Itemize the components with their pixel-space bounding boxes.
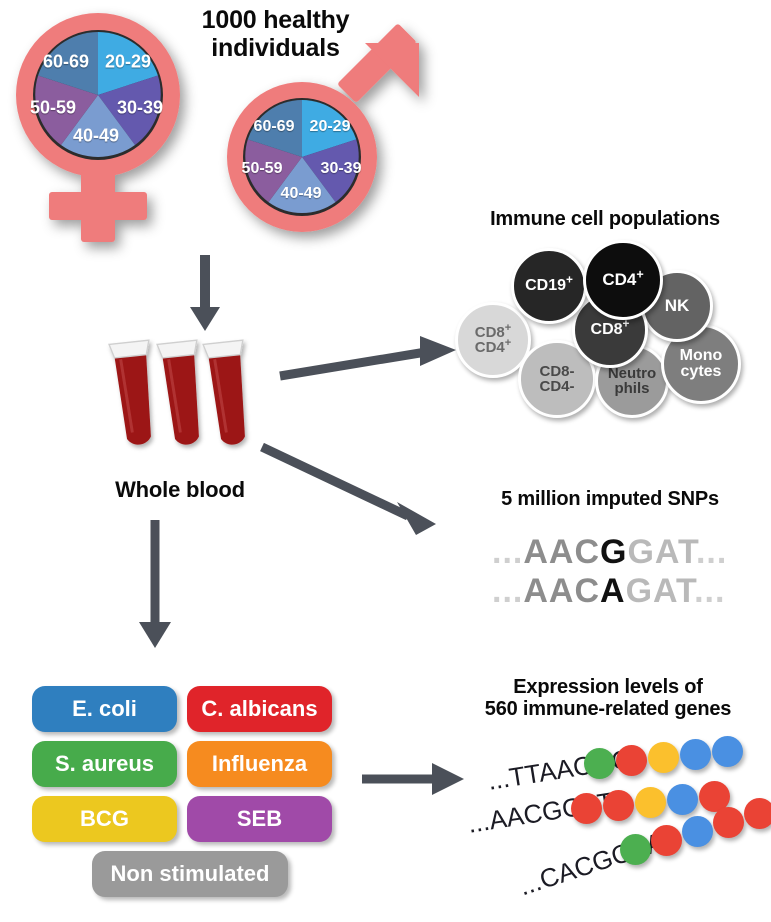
expression-strand-1-bead-3: [648, 742, 679, 773]
expression-strand-3-bead-3: [682, 816, 713, 847]
stimulus-seb[interactable]: SEB: [187, 796, 332, 842]
arrow-stimuli-to-expression: [360, 755, 470, 805]
immune-cell-cd8p-label: CD8+: [591, 322, 630, 338]
immune-cell-cd8n-cd4n-label: CD8-CD4-: [539, 364, 574, 395]
immune-cell-cd4p: CD4+: [583, 240, 663, 320]
snp-seq-2-left: AAC: [523, 572, 600, 610]
snp-sequence-row-2: ...AACAGAT...: [492, 572, 725, 611]
snp-seq-1-prefix: ...: [492, 533, 523, 571]
male-pie-label-60-69: 60-69: [254, 118, 295, 136]
immune-cell-cd19p-label: CD19+: [525, 278, 573, 294]
stimulus-non-stimulated[interactable]: Non stimulated: [92, 851, 288, 897]
immune-cell-nk-label: NK: [665, 297, 690, 314]
female-pie-label-40-49: 40-49: [73, 126, 119, 147]
stimulus-s-aureus-label: S. aureus: [55, 751, 154, 777]
immune-cell-group: CD8+CD4+ CD8-CD4- Neutrophils Monocytes …: [455, 240, 755, 420]
snp-seq-1-suffix: ...: [696, 533, 727, 571]
snp-seq-1-right: GAT: [627, 533, 695, 571]
stimulus-e-coli-label: E. coli: [72, 696, 137, 722]
expression-strand-1-bead-5: [712, 736, 743, 767]
snp-seq-1-left: AAC: [523, 533, 600, 571]
female-pie-label-30-39: 30-39: [117, 98, 163, 119]
snp-sequence-row-1: ...AACGGAT...: [492, 533, 727, 572]
expression-strand-2-bead-3: [635, 787, 666, 818]
expression-title-line1: Expression levels of: [452, 676, 764, 698]
immune-cell-cd4p-label: CD4+: [602, 271, 643, 288]
expression-strand-3-bead-5: [744, 798, 771, 829]
male-pie-label-20-29: 20-29: [310, 118, 351, 136]
stimulus-e-coli[interactable]: E. coli: [32, 686, 177, 732]
female-pie-label-60-69: 60-69: [43, 52, 89, 73]
snp-seq-1-variant: G: [600, 533, 627, 571]
expression-strand-3-bead-2: [651, 825, 682, 856]
expression-strand-2-bead-2: [603, 790, 634, 821]
expression-strand-3-bead-4: [713, 807, 744, 838]
snp-seq-2-right: GAT: [626, 572, 694, 610]
expression-strand-2-bead-1: [571, 793, 602, 824]
arrow-blood-to-stimuli: [130, 520, 180, 650]
expression-strand-3-bead-1: [620, 834, 651, 865]
immune-title-text: Immune cell populations: [490, 208, 720, 230]
stimulus-bcg-label: BCG: [80, 806, 129, 832]
immune-cell-cd8p-cd4p-label: CD8+CD4+: [475, 325, 512, 356]
stimulus-seb-label: SEB: [237, 806, 282, 832]
male-pie-label-30-39: 30-39: [321, 160, 362, 178]
stimulus-c-albicans[interactable]: C. albicans: [187, 686, 332, 732]
whole-blood-label-text: Whole blood: [115, 477, 245, 502]
snp-title: 5 million imputed SNPs: [460, 488, 760, 510]
expression-strand-1-bead-4: [680, 739, 711, 770]
snp-title-text: 5 million imputed SNPs: [501, 488, 719, 510]
stimulus-non-stimulated-label: Non stimulated: [111, 861, 270, 887]
stimulus-s-aureus[interactable]: S. aureus: [32, 741, 177, 787]
male-symbol-shape: [205, 35, 440, 250]
male-pie-label-40-49: 40-49: [281, 185, 322, 203]
female-pie-label-20-29: 20-29: [105, 52, 151, 73]
snp-seq-2-variant: A: [600, 572, 626, 610]
expression-strand-1-bead-2: [616, 745, 647, 776]
blood-tubes-shape: [95, 330, 265, 470]
immune-cell-monocytes-label: Monocytes: [680, 348, 723, 381]
expression-strand-3: ...CACGCAA: [520, 850, 771, 910]
male-symbol: 20-29 30-39 40-49 50-59 60-69: [205, 35, 440, 250]
stimulus-influenza[interactable]: Influenza: [187, 741, 332, 787]
arrow-blood-to-snp: [258, 440, 453, 545]
expression-strand-2-bead-4: [667, 784, 698, 815]
whole-blood-label: Whole blood: [80, 478, 280, 503]
stimulus-c-albicans-label: C. albicans: [201, 696, 317, 722]
immune-title: Immune cell populations: [450, 208, 760, 230]
blood-tubes: [95, 330, 265, 470]
snp-seq-2-prefix: ...: [492, 572, 523, 610]
female-symbol: 20-29 30-39 40-49 50-59 60-69: [0, 0, 215, 250]
immune-cell-cd19p: CD19+: [511, 248, 587, 324]
female-pie-label-50-59: 50-59: [30, 98, 76, 119]
stimulus-influenza-label: Influenza: [212, 751, 307, 777]
expression-strand-1-bead-1: [584, 748, 615, 779]
arrow-individuals-to-blood: [180, 255, 230, 335]
male-pie-label-50-59: 50-59: [242, 160, 283, 178]
immune-cell-neutrophils-label: Neutrophils: [608, 366, 656, 397]
snp-seq-2-suffix: ...: [694, 572, 725, 610]
arrow-blood-to-immune: [278, 330, 463, 390]
expression-title: Expression levels of 560 immune-related …: [452, 676, 764, 721]
expression-title-line2: 560 immune-related genes: [452, 698, 764, 720]
stimulus-bcg[interactable]: BCG: [32, 796, 177, 842]
